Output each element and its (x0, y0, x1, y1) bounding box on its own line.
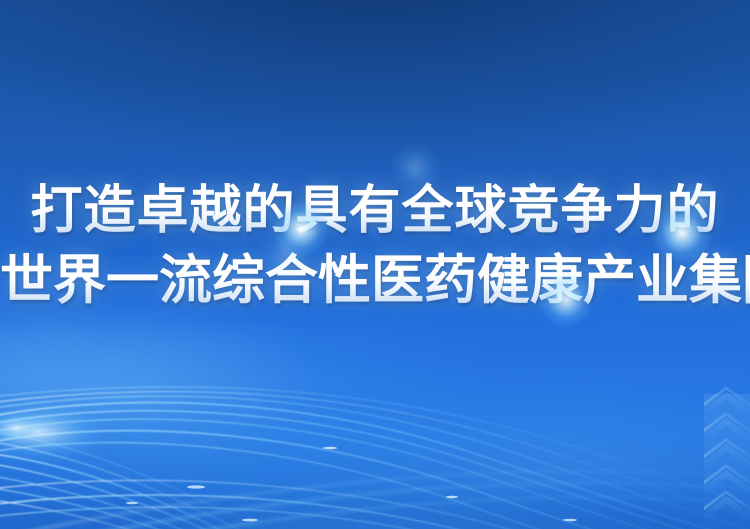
promo-banner: 打造卓越的具有全球竞争力的 世界一流综合性医药健康产业集团 (0, 0, 750, 529)
wave-band-secondary (0, 300, 750, 420)
